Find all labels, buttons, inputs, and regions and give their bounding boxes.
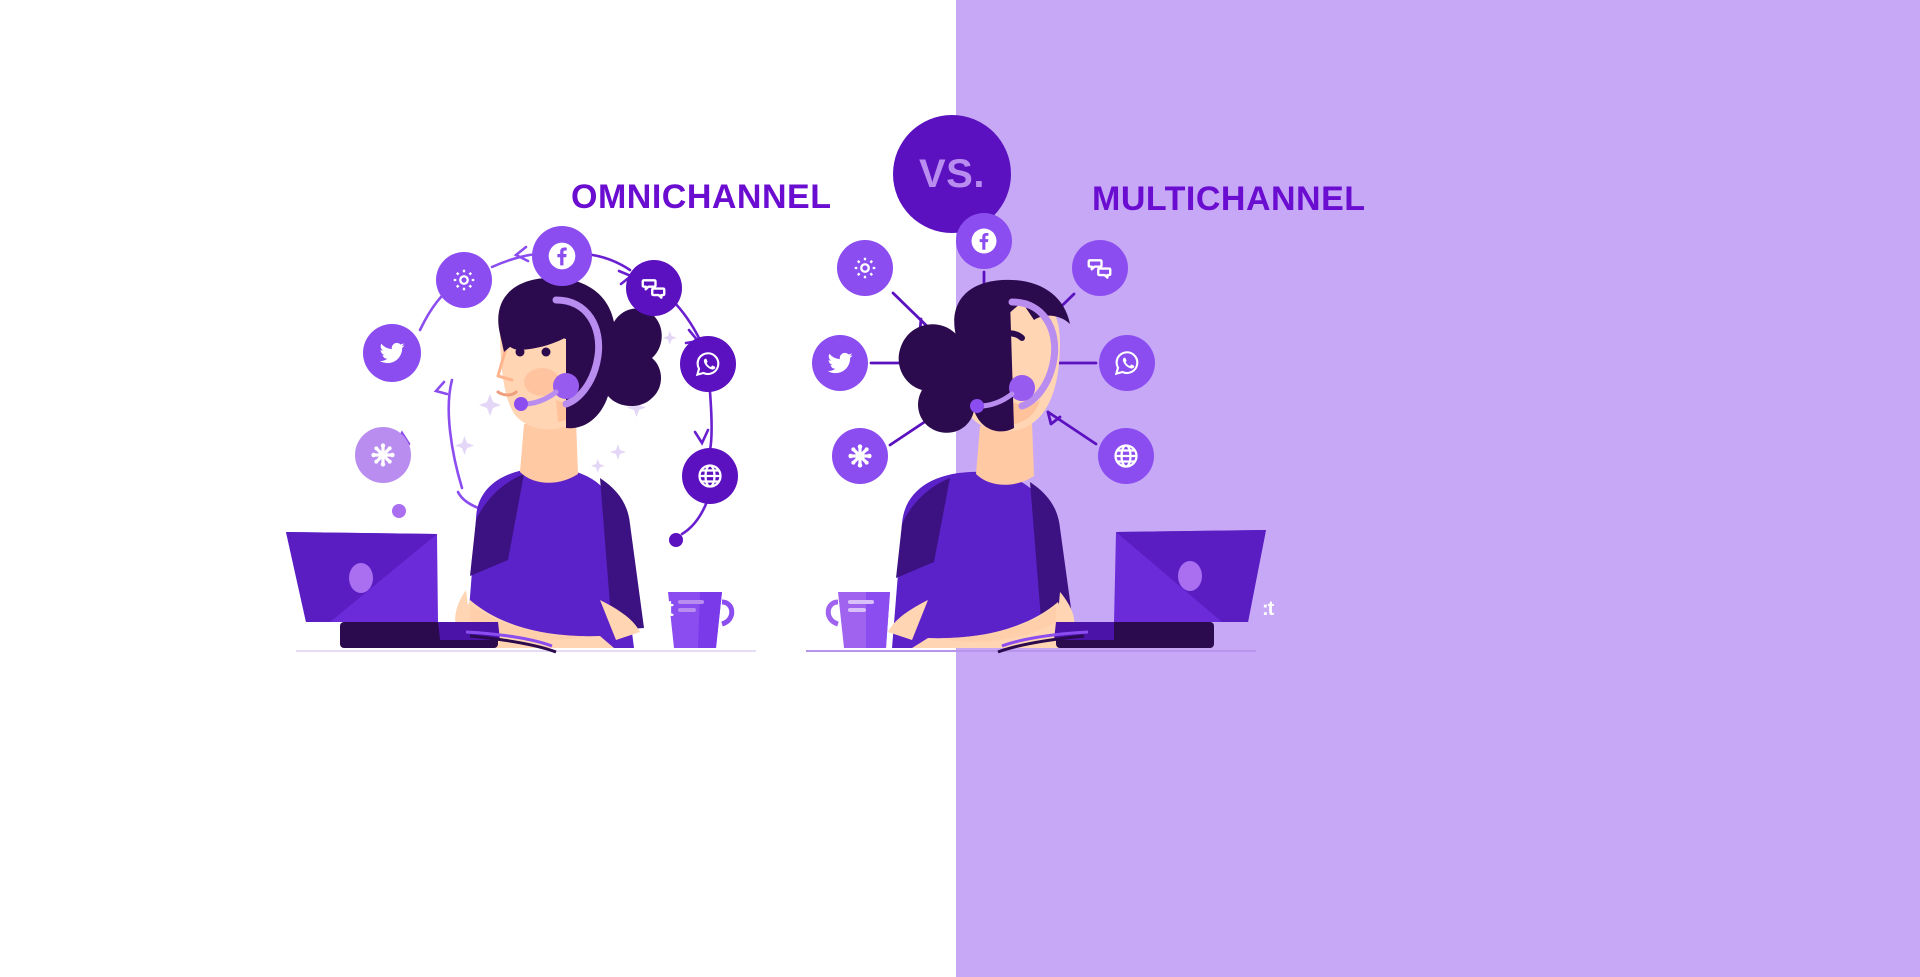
right-panel-background <box>956 0 1920 977</box>
left-shirt-logo: :t <box>660 596 673 622</box>
left-twitter-icon <box>363 324 421 382</box>
right-twitter-icon <box>812 335 868 391</box>
right-whatsapp-icon <box>1099 335 1155 391</box>
illustration-canvas: OMNICHANNEL MULTICHANNEL VS. <box>0 0 1920 977</box>
left-chat-icon <box>626 260 682 316</box>
left-gear-icon <box>436 252 492 308</box>
right-chat-icon <box>1072 240 1128 296</box>
left-facebook-icon <box>532 226 592 286</box>
right-shirt-logo: :t <box>1262 598 1273 621</box>
right-globe-icon <box>1098 428 1154 484</box>
right-hub-icon <box>832 428 888 484</box>
versus-badge-label: VS. <box>919 152 985 197</box>
left-hub-icon <box>355 427 411 483</box>
right-gear-icon <box>837 240 893 296</box>
right-facebook-icon <box>956 213 1012 269</box>
left-globe-icon <box>682 448 738 504</box>
page-title-omnichannel: OMNICHANNEL <box>571 178 831 217</box>
page-title-multichannel: MULTICHANNEL <box>1092 180 1366 219</box>
left-whatsapp-icon <box>680 336 736 392</box>
